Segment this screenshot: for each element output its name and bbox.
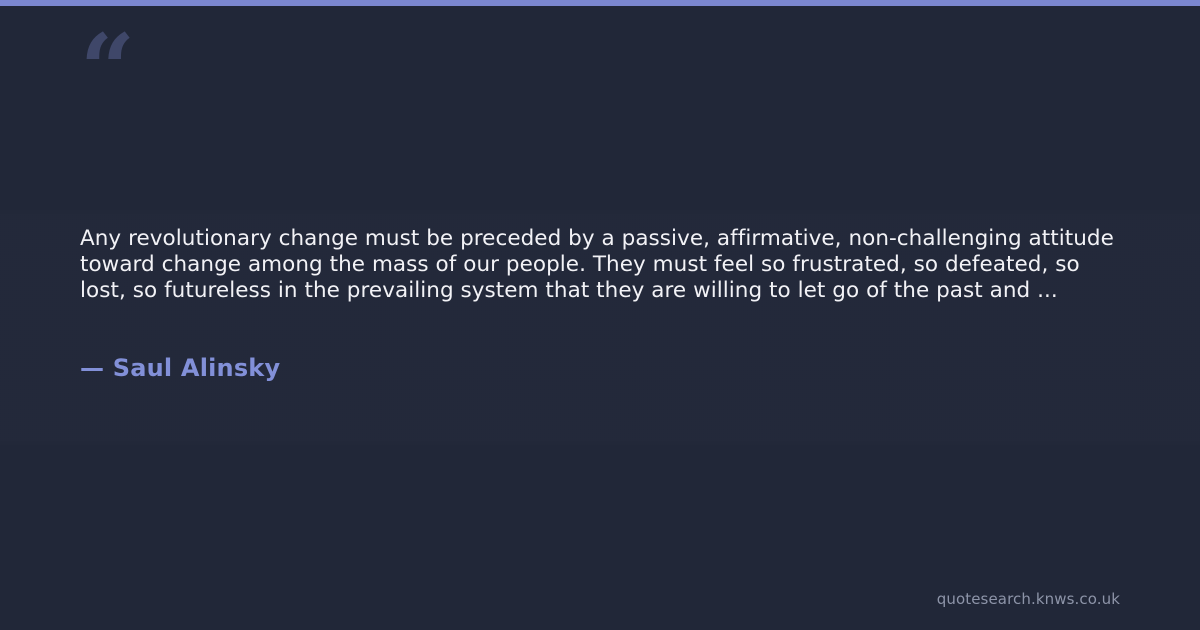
open-quote-icon: “ (80, 22, 133, 118)
top-accent-bar (0, 0, 1200, 6)
source-url-label: quotesearch.knws.co.uk (937, 589, 1120, 609)
quote-text: Any revolutionary change must be precede… (80, 226, 1126, 304)
quote-card-content: “ Any revolutionary change must be prece… (0, 0, 1200, 630)
author-name: Saul Alinsky (113, 354, 281, 382)
quote-attribution: — Saul Alinsky (80, 353, 280, 383)
quote-card: “ Any revolutionary change must be prece… (0, 0, 1200, 630)
attribution-dash: — (80, 354, 113, 382)
